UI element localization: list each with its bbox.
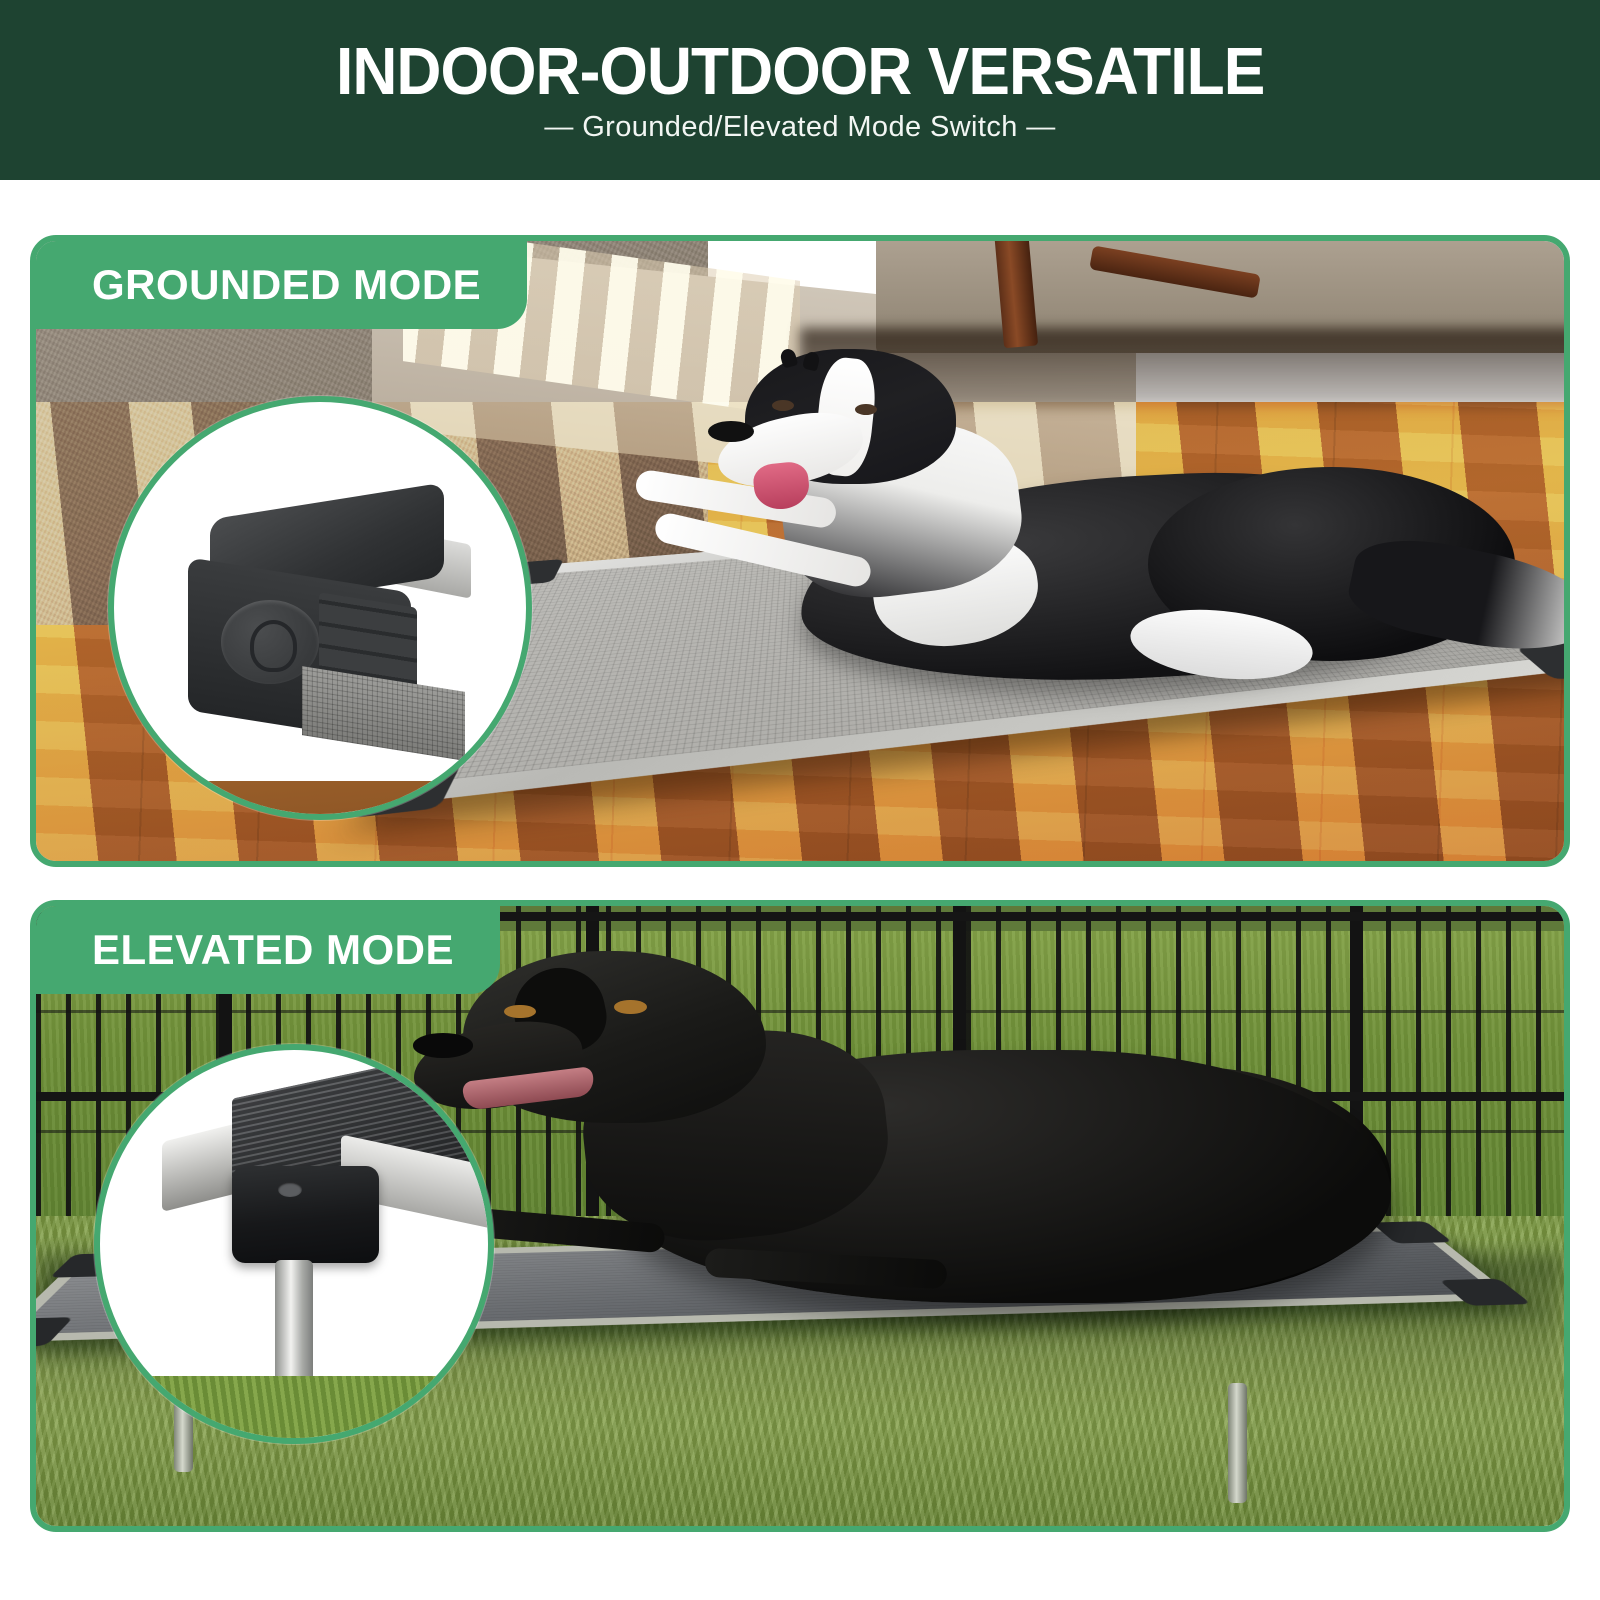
border-collie-dog — [617, 315, 1534, 737]
cot-leg — [275, 1260, 314, 1392]
page-header: INDOOR-OUTDOOR VERSATILE — Grounded/Elev… — [0, 0, 1600, 180]
dog-eye — [855, 404, 877, 415]
black-labrador-dog — [403, 943, 1411, 1352]
badge-elevated-mode: ELEVATED MODE — [36, 906, 500, 994]
panel-grounded-mode: GROUNDED MODE — [30, 235, 1570, 867]
cot-leg — [1228, 1383, 1247, 1503]
panel-elevated-mode: ELEVATED MODE — [30, 900, 1570, 1532]
cot-mesh-fabric — [302, 666, 465, 761]
grass-under-inset — [94, 1376, 494, 1444]
dog-eye — [772, 400, 794, 411]
grounded-corner-cap-illustration — [188, 501, 460, 748]
dog-ear — [802, 350, 821, 371]
screw-hole-icon — [278, 1182, 301, 1198]
badge-grounded-label: GROUNDED MODE — [92, 264, 481, 306]
dog-nose — [708, 421, 754, 442]
page-title: INDOOR-OUTDOOR VERSATILE — [336, 38, 1264, 105]
corner-cap-with-leg — [232, 1166, 379, 1263]
dog-ear — [779, 347, 798, 368]
badge-elevated-label: ELEVATED MODE — [92, 929, 454, 971]
grounded-corner-inset — [108, 396, 532, 820]
page-subtitle: — Grounded/Elevated Mode Switch — — [544, 113, 1055, 142]
badge-grounded-mode: GROUNDED MODE — [36, 241, 527, 329]
elevated-corner-inset — [94, 1044, 494, 1444]
